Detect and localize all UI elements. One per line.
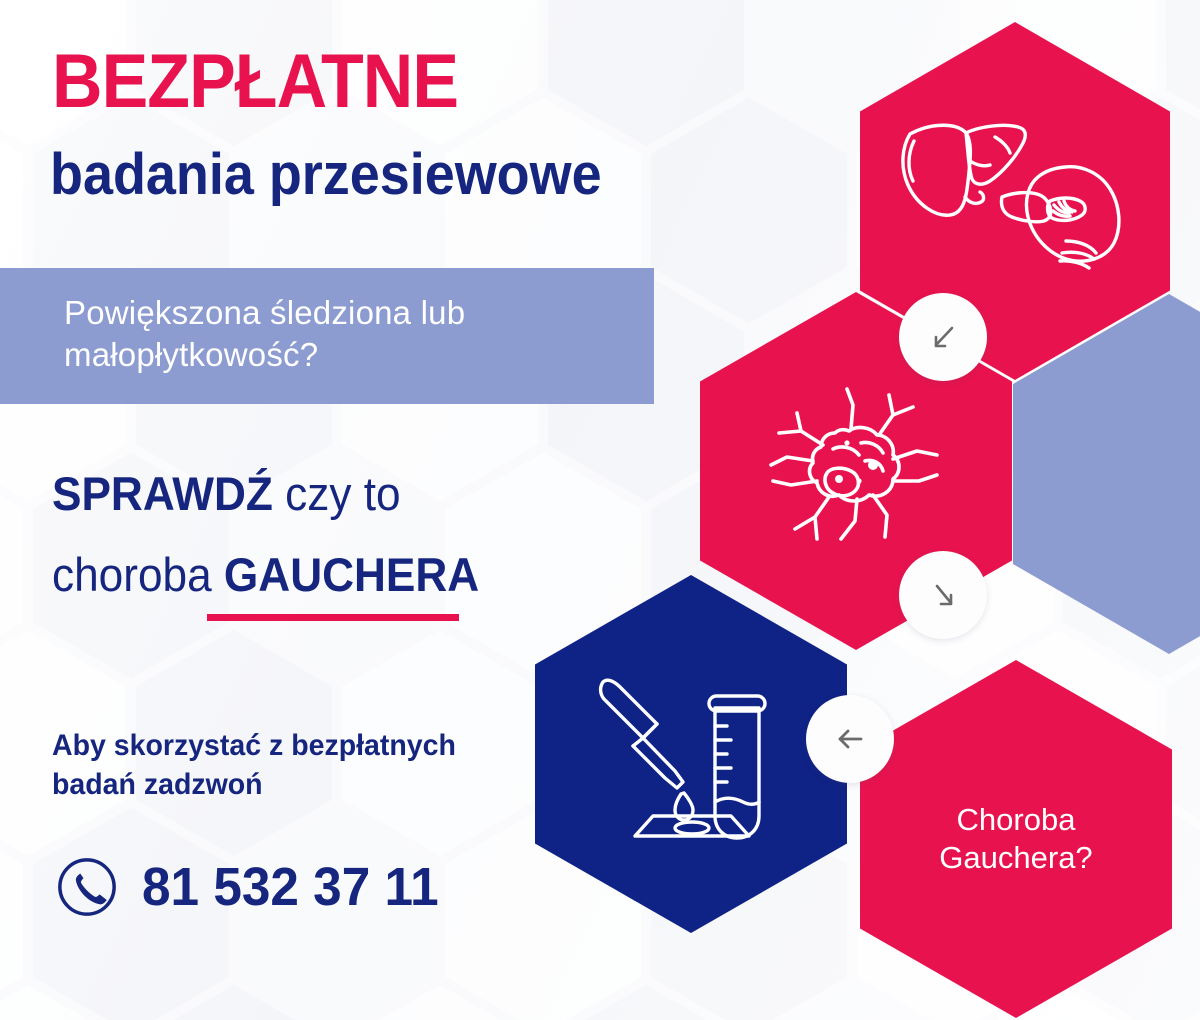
arrow-down-left-icon	[899, 293, 987, 381]
poster-canvas: BEZPŁATNE badania przesiewowe Powiększon…	[0, 0, 1200, 1020]
arrow-glyph-1	[923, 317, 963, 357]
arrow-glyph-3	[829, 718, 871, 760]
result-line-2: Gauchera?	[939, 839, 1092, 877]
hexagon-diagram: Choroba Gauchera?	[0, 0, 1200, 1020]
hex-result[interactable]: Choroba Gauchera?	[860, 660, 1172, 1018]
hex-lab-test[interactable]	[535, 575, 847, 933]
result-line-1: Choroba	[939, 801, 1092, 839]
arrow-glyph-2	[923, 575, 963, 615]
hex-result-label: Choroba Gauchera?	[860, 660, 1172, 1018]
arrow-left-icon	[806, 695, 894, 783]
arrow-down-right-icon	[899, 551, 987, 639]
pipette-test-tube-icon	[535, 575, 847, 933]
